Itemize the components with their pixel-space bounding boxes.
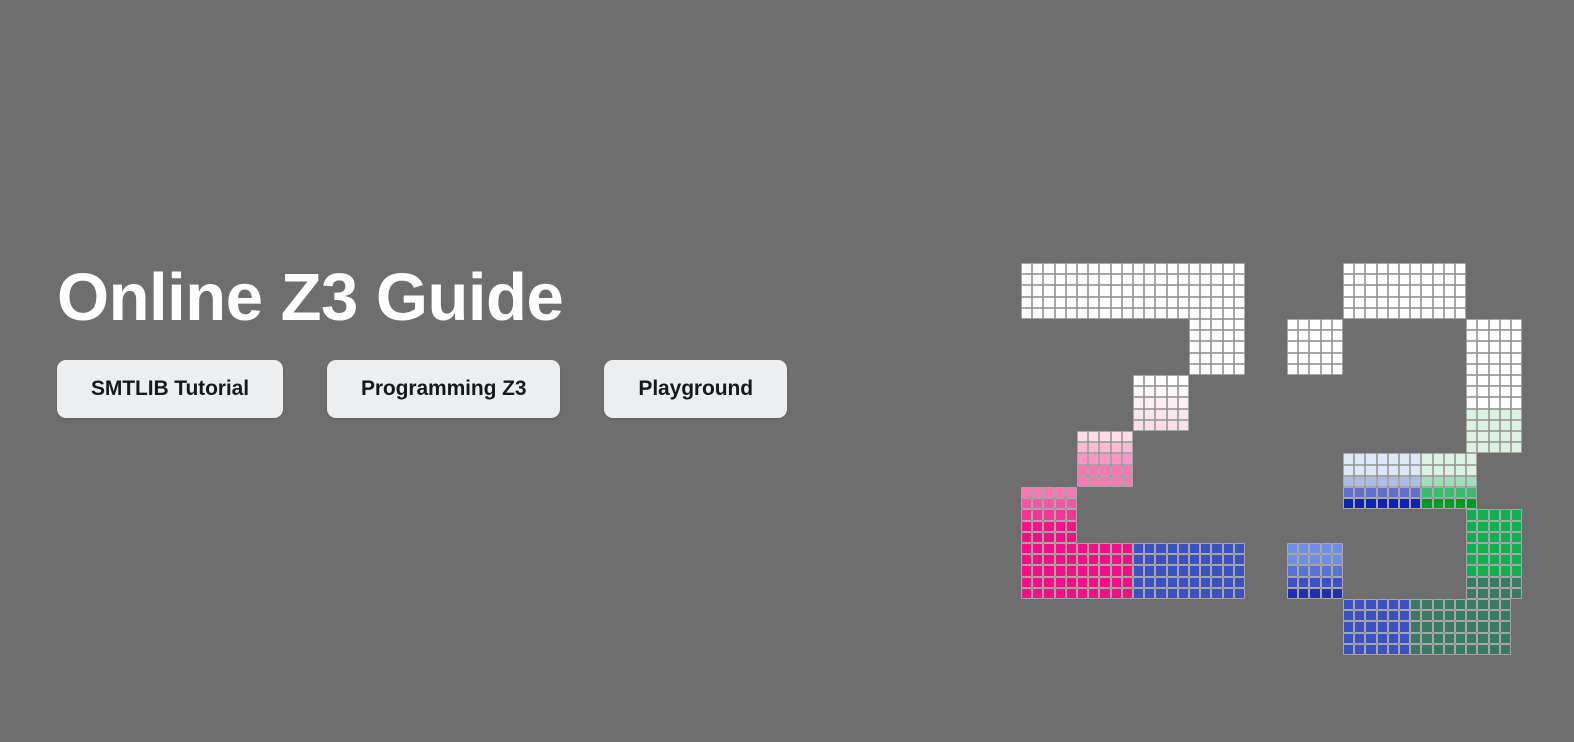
- smtlib-tutorial-button[interactable]: SMTLIB Tutorial: [57, 360, 283, 418]
- page-title: Online Z3 Guide: [57, 258, 957, 338]
- z3-pixel-logo: [1021, 263, 1521, 593]
- playground-button[interactable]: Playground: [604, 360, 787, 418]
- hero-section: Online Z3 Guide SMTLIB Tutorial Programm…: [0, 0, 1574, 742]
- cta-button-row: SMTLIB Tutorial Programming Z3 Playgroun…: [57, 360, 957, 418]
- programming-z3-button[interactable]: Programming Z3: [327, 360, 560, 418]
- hero-text-column: Online Z3 Guide SMTLIB Tutorial Programm…: [57, 258, 957, 418]
